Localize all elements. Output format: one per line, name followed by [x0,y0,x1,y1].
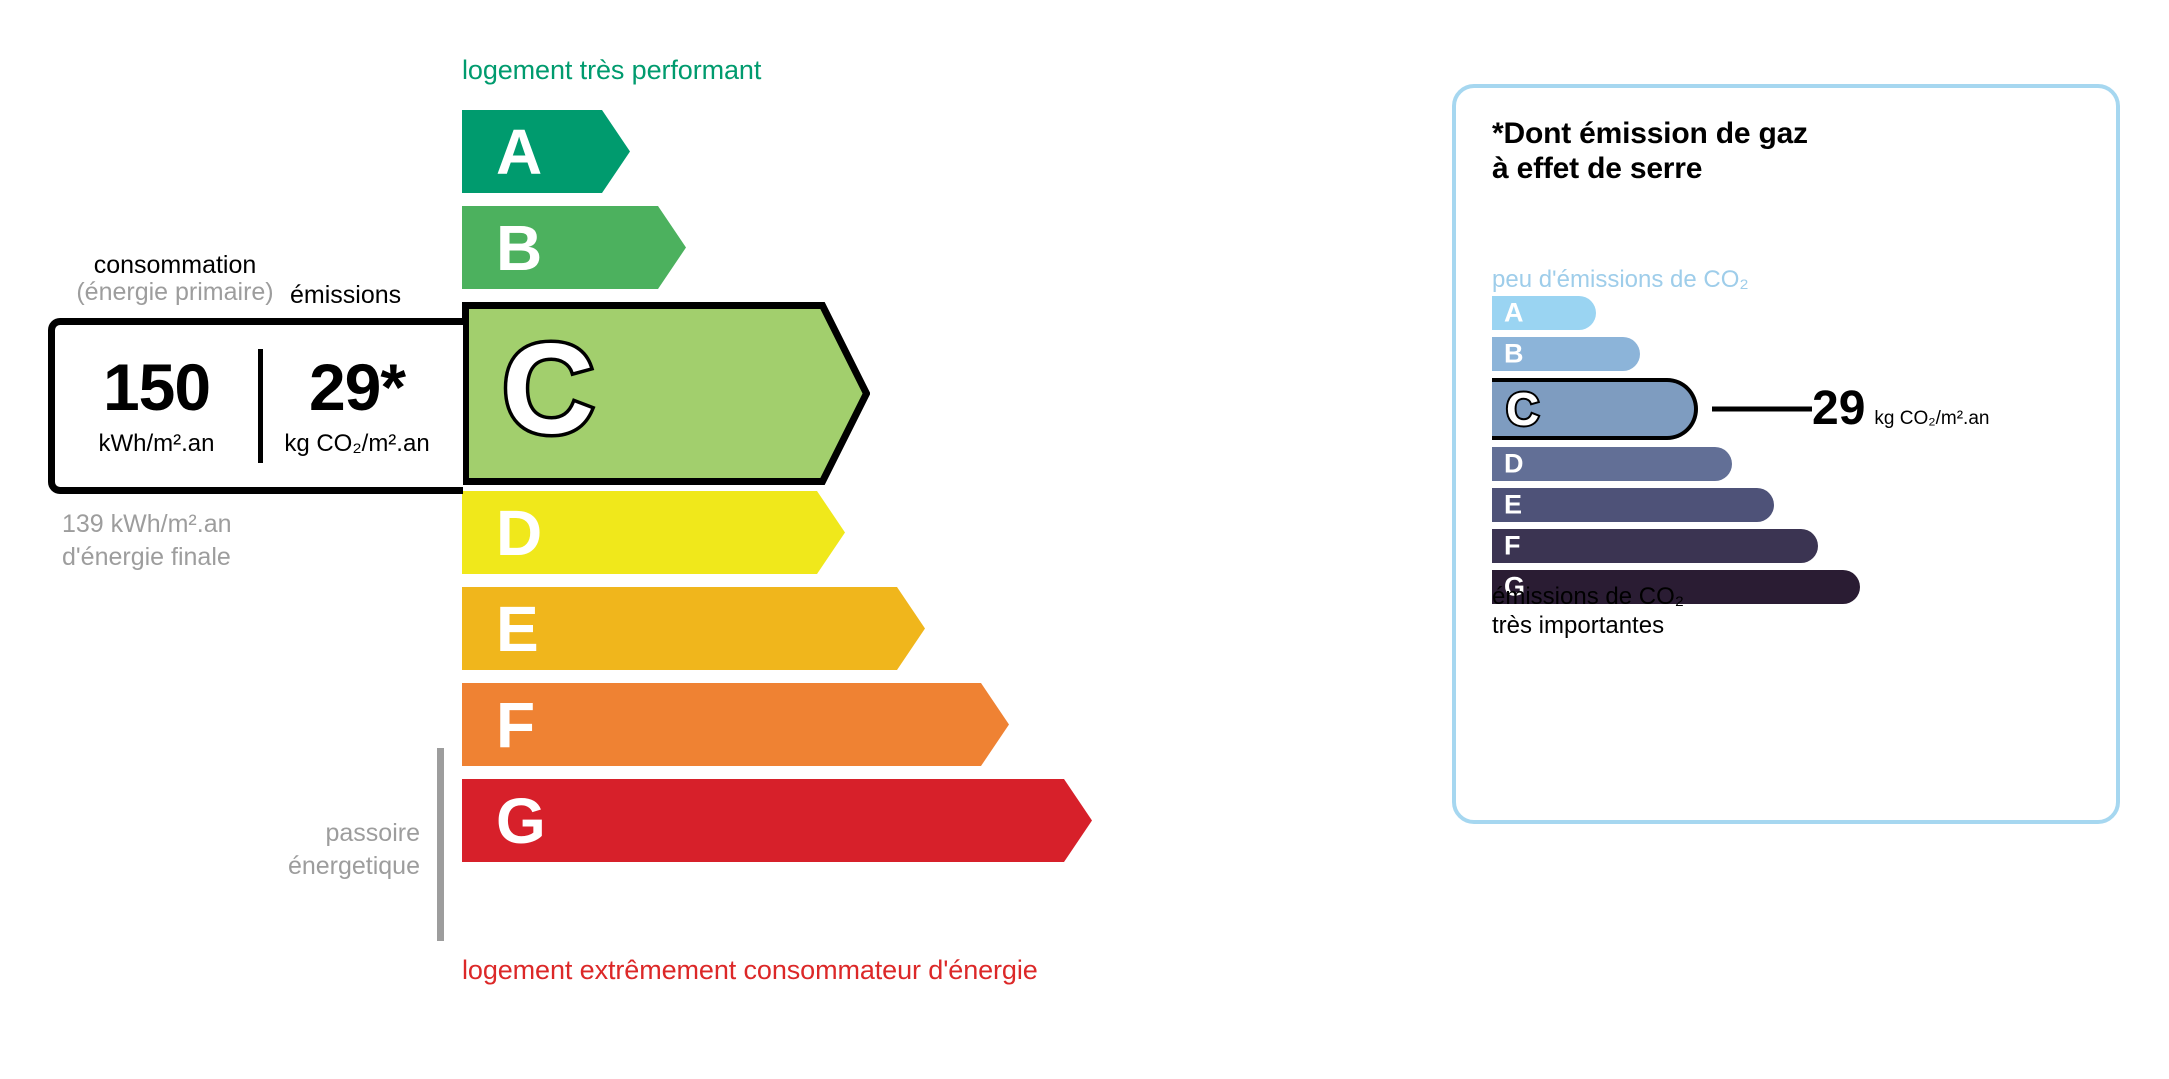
consumption-cell: 150 kWh/m².an [55,325,258,487]
co2-bottom-caption-line1: émissions de CO₂ [1492,582,1684,611]
co2-class-row-b: B [1492,337,2092,371]
consumption-label-sub: (énergie primaire) [60,279,290,306]
co2-class-bar-e: E [1492,488,1774,522]
energy-class-scale: ABCDEFG [462,110,1262,875]
passoire-label-line1: passoire [230,817,420,850]
co2-class-letter-e: E [1504,492,1522,519]
co2-callout-unit: kg CO₂/m².an [1874,408,1989,430]
emissions-cell: 29* kg CO₂/m².an [258,325,456,487]
energy-class-arrow-c: C [462,302,1262,478]
co2-class-row-d: D [1492,447,2092,481]
co2-class-letter-b: B [1504,341,1524,368]
co2-bottom-caption: émissions de CO₂ très importantes [1492,582,1684,641]
co2-class-letter-f: F [1504,533,1521,560]
co2-class-letter-c: C [1506,386,1539,432]
energy-performance-chart: logement très performant ABCDEFG consomm… [0,0,1440,1079]
co2-title-line2: à effet de serre [1492,151,1808,186]
value-box: 150 kWh/m².an 29* kg CO₂/m².an [48,318,463,494]
consumption-unit: kWh/m².an [98,430,214,458]
energy-class-row-c: C [462,302,1262,478]
co2-class-bar-b: B [1492,337,1640,371]
co2-emissions-panel: *Dont émission de gaz à effet de serre p… [1452,84,2120,824]
consumption-label: consommation (énergie primaire) [60,252,290,306]
energy-class-row-a: A [462,110,1262,193]
energy-class-row-b: B [462,206,1262,289]
energy-class-arrow-a: A [462,110,1262,193]
emissions-label: émissions [290,281,401,310]
energy-class-row-g: G [462,779,1262,862]
co2-callout-leader-line [1712,407,1812,412]
passoire-label-line2: énergetique [230,850,420,883]
energy-class-row-d: D [462,491,1262,574]
co2-class-bar-d: D [1492,447,1732,481]
energy-class-arrow-e: E [462,587,1262,670]
co2-title-line1: *Dont émission de gaz [1492,116,1808,151]
co2-class-row-c: C29kg CO₂/m².an [1492,378,2092,440]
co2-class-letter-d: D [1504,451,1524,478]
co2-bottom-caption-line2: très importantes [1492,611,1684,640]
energy-bottom-caption: logement extrêmement consommateur d'éner… [462,955,1038,986]
co2-class-bar-a: A [1492,296,1596,330]
energy-top-caption: logement très performant [462,55,761,86]
energy-class-arrow-b: B [462,206,1262,289]
co2-top-caption: peu d'émissions de CO₂ [1492,266,1749,294]
energy-class-row-f: F [462,683,1262,766]
energy-class-arrow-d: D [462,491,1262,574]
co2-class-row-a: A [1492,296,2092,330]
co2-class-row-f: F [1492,529,2092,563]
consumption-value: 150 [103,354,210,420]
consumption-label-main: consommation [60,252,290,279]
co2-class-row-e: E [1492,488,2092,522]
co2-callout-value: 29 [1812,385,1865,433]
energy-class-arrow-g: G [462,779,1262,862]
energy-class-arrow-f: F [462,683,1262,766]
final-energy-text: d'énergie finale [62,541,232,574]
co2-panel-title: *Dont émission de gaz à effet de serre [1492,116,1808,187]
co2-callout: 29kg CO₂/m².an [1812,385,1989,433]
final-energy-note: 139 kWh/m².an d'énergie finale [62,508,232,573]
energy-class-row-e: E [462,587,1262,670]
final-energy-value: 139 kWh/m².an [62,508,232,541]
co2-class-bar-f: F [1492,529,1818,563]
co2-class-bar-c: C [1492,378,1698,440]
co2-class-scale: ABC29kg CO₂/m².anDEFG [1492,296,2092,611]
passoire-label: passoire énergetique [230,817,420,882]
emissions-unit: kg CO₂/m².an [284,430,429,458]
co2-class-letter-a: A [1504,300,1524,327]
emissions-value: 29* [309,354,405,420]
passoire-marker-bar [437,748,444,941]
